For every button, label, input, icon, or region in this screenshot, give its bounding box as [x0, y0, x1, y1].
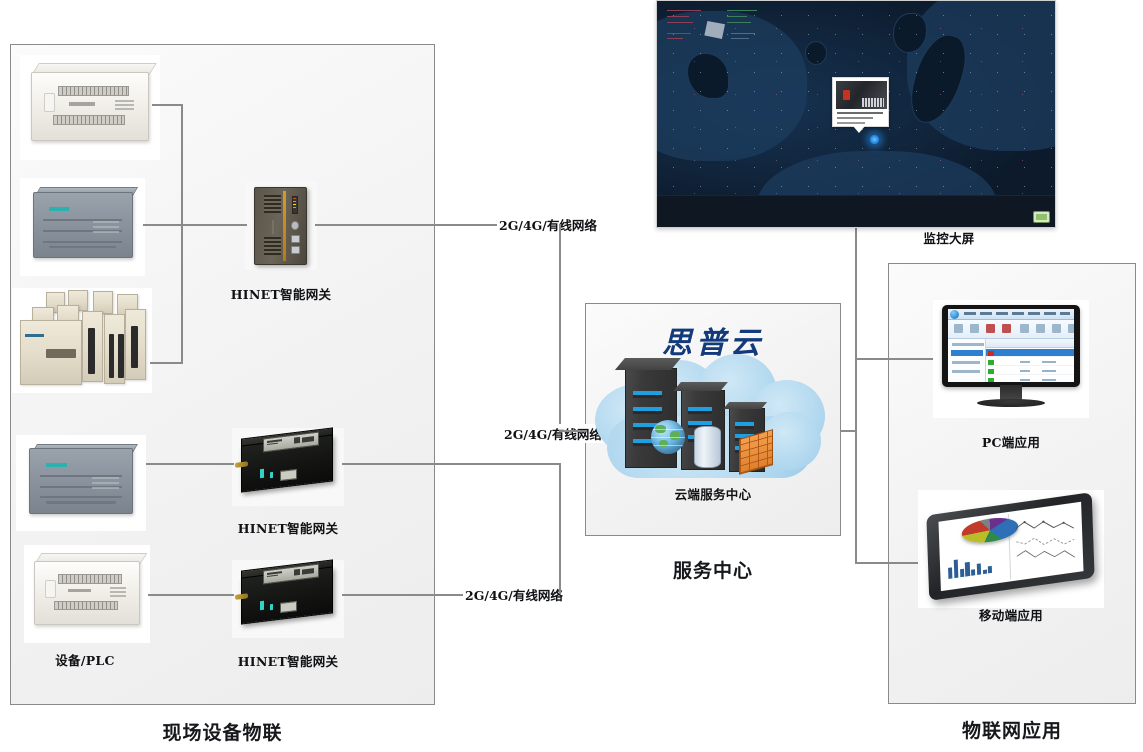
ethernet-port-2	[291, 246, 300, 254]
hud-line	[667, 22, 693, 23]
app-logo-orb	[950, 310, 959, 319]
plate-qr	[302, 436, 314, 443]
monitor-bezel	[942, 305, 1079, 388]
gateway-box-mid	[232, 428, 344, 506]
rack-bay	[633, 391, 662, 395]
app-data-grid[interactable]	[986, 339, 1074, 381]
tree-node[interactable]	[952, 343, 984, 346]
plc-terminal-block-lower	[53, 115, 125, 125]
drive-slot	[109, 334, 115, 378]
hud-line	[727, 16, 747, 17]
grid-cell	[1042, 361, 1056, 363]
device-siemens-plc-mid	[16, 435, 146, 531]
led-yellow	[293, 204, 296, 205]
toolbar-icon[interactable]	[970, 324, 979, 333]
map-device-popup	[832, 77, 889, 127]
globe-meridian	[651, 429, 685, 430]
globe-landmass	[670, 431, 680, 440]
grid-row[interactable]	[986, 376, 1074, 381]
gateway-shell	[254, 187, 307, 264]
wire-gateway-mid-to-cloud	[342, 463, 560, 465]
grid-row[interactable]	[986, 358, 1074, 366]
label-gateway-bottom: HINET智能网关	[223, 651, 353, 670]
tablet-frame	[927, 492, 1096, 601]
line-chart-area	[1013, 508, 1078, 573]
photo-red-component	[843, 90, 850, 100]
plc-body	[29, 448, 133, 513]
bar	[988, 566, 992, 574]
wire-plc2-stub	[143, 224, 183, 226]
antenna-connector	[291, 221, 299, 230]
menu-item[interactable]	[980, 312, 992, 315]
map-device-marker[interactable]	[869, 134, 880, 145]
plate-text-line	[268, 443, 279, 445]
status-led-cyan	[260, 600, 264, 609]
popup-text-line	[837, 117, 873, 119]
plc-body	[33, 192, 133, 259]
status-led-cyan-2	[270, 604, 273, 611]
monitor-base	[977, 399, 1046, 407]
plc-terminal-block-lower	[54, 601, 118, 610]
toolbar-icon[interactable]	[1052, 324, 1061, 333]
tablet-graphic	[918, 490, 1104, 608]
hud-line	[727, 10, 757, 11]
app-navigation-tree[interactable]	[948, 339, 986, 381]
gateway-din-rail-top	[245, 182, 317, 270]
wire-to-mobile-down	[855, 430, 857, 564]
plc-side-panel	[44, 93, 56, 112]
plate-qr	[302, 568, 314, 575]
hud-region-shape	[703, 21, 725, 39]
bar-chart	[948, 547, 1000, 579]
drive-slot	[131, 326, 138, 368]
label-gateway-top: HINET智能网关	[216, 284, 346, 303]
globe-meridian	[651, 437, 685, 438]
bar	[971, 569, 975, 576]
label-pc-app: PC端应用	[936, 432, 1086, 451]
photo-keypad	[862, 98, 884, 107]
plc-terminal-block-upper	[58, 574, 122, 583]
label-network-bottom: 2G/4G/有线网络	[463, 585, 565, 604]
menu-item[interactable]	[1060, 312, 1070, 315]
pc-monitor-graphic	[933, 300, 1089, 418]
pie-chart	[961, 515, 1019, 547]
plc-led-array	[115, 100, 133, 111]
label-device-plc: 设备/PLC	[20, 650, 150, 669]
grid-cell	[1042, 370, 1056, 372]
plc-brand-mark	[68, 589, 91, 592]
label-mobile-app: 移动端应用	[936, 605, 1086, 624]
toolbar-icon[interactable]	[954, 324, 963, 333]
popup-text-line	[837, 112, 883, 114]
led-red	[293, 198, 296, 199]
globe-icon	[651, 420, 685, 454]
toolbar-icon[interactable]	[1020, 324, 1029, 333]
wire-plc3-stub	[150, 362, 183, 364]
app-toolbar-ribbon	[948, 320, 1074, 339]
bar	[960, 568, 964, 577]
database-icon	[694, 426, 721, 468]
hud-line	[731, 33, 755, 34]
plc-body	[34, 561, 140, 626]
device-siemens-plc-top	[20, 178, 145, 276]
label-monitor-wall: 监控大屏	[824, 228, 1074, 247]
tree-node[interactable]	[952, 361, 980, 364]
menu-item[interactable]	[964, 312, 976, 315]
rack-top	[673, 382, 728, 391]
globe-meridian	[651, 445, 685, 446]
wire-plc4-to-gateway	[146, 463, 234, 465]
label-network-mid: 2G/4G/有线网络	[502, 424, 604, 443]
gateway-box-bottom	[232, 560, 344, 638]
grid-row[interactable]	[986, 367, 1074, 375]
device-mitsubishi-plc-bottom	[24, 545, 150, 643]
wire-net-top-down	[559, 224, 561, 430]
bar	[949, 567, 954, 579]
status-led-cyan	[260, 468, 264, 477]
rack-bay	[633, 407, 662, 411]
caption-service-center: 服务中心	[585, 556, 841, 583]
wire-plc5-to-gateway	[148, 594, 234, 596]
grid-header	[986, 339, 1074, 348]
plc-side-panel	[45, 580, 55, 598]
menu-item[interactable]	[1044, 312, 1056, 315]
grid-cell	[1042, 379, 1056, 381]
screen-power-indicator[interactable]	[1033, 211, 1050, 223]
cloud-service-graphic: 思普云	[593, 312, 833, 527]
wire-net-bottom-up	[559, 463, 561, 594]
device-mitsubishi-plc-top	[20, 55, 160, 160]
rack-bay	[688, 421, 712, 425]
gateway-emboss	[272, 220, 274, 234]
plate-barcode	[295, 569, 300, 576]
ethernet-port-1	[291, 235, 300, 243]
label-gateway-mid: HINET智能网关	[223, 518, 353, 537]
line-series-3	[1017, 544, 1075, 566]
toolbar-icon[interactable]	[1036, 324, 1045, 333]
siemens-logo	[46, 463, 66, 467]
plc-led-array	[110, 587, 127, 597]
vent-grille-bottom	[264, 237, 281, 255]
status-indicator-alarm	[988, 351, 994, 356]
diagram-canvas: 设备/PLC HINET智能网关	[0, 0, 1143, 752]
display-window	[46, 349, 77, 358]
wire-into-cloud	[559, 430, 587, 432]
wire-left-bus	[181, 104, 183, 363]
plc-io-rows	[93, 221, 118, 235]
brand-stripe	[25, 334, 45, 337]
grid-cell	[1020, 379, 1030, 381]
vent-grille-top	[264, 195, 281, 213]
toolbar-icon[interactable]	[1002, 324, 1011, 333]
menu-item[interactable]	[1012, 312, 1024, 315]
hud-line	[667, 10, 701, 11]
monitor-screen	[948, 309, 1074, 382]
menu-item[interactable]	[1028, 312, 1040, 315]
grid-row-selected[interactable]	[986, 349, 1074, 357]
caption-field-devices: 现场设备物联	[10, 718, 435, 745]
grid-cell	[1020, 370, 1030, 372]
tree-node-selected[interactable]	[951, 350, 983, 356]
status-indicator-ok	[988, 360, 994, 365]
plc-io-rows	[92, 477, 119, 491]
caption-iot-applications: 物联网应用	[888, 716, 1136, 743]
hud-line	[667, 33, 691, 34]
tablet-screen	[938, 502, 1083, 592]
grid-cell	[1020, 361, 1030, 363]
bar	[977, 564, 981, 576]
plc-brand-mark	[69, 102, 94, 105]
wire-plc1-stub	[152, 104, 183, 106]
monitoring-wall-screen[interactable]	[656, 0, 1056, 228]
monitor-stand	[1000, 385, 1022, 400]
hud-line	[667, 38, 683, 39]
rack-top	[615, 358, 681, 370]
hud-line	[727, 22, 751, 23]
hud-line	[667, 16, 689, 17]
plc-seam-3	[40, 496, 122, 498]
plate-text-line	[268, 575, 279, 577]
siemens-logo	[49, 207, 69, 211]
plc-terminal-block-upper	[58, 86, 130, 96]
hud-line	[731, 38, 749, 39]
bar	[983, 569, 987, 574]
status-indicator-ok	[988, 369, 994, 374]
label-network-top: 2G/4G/有线网络	[497, 215, 599, 234]
device-servo-drive-stack	[12, 288, 152, 393]
plc-body	[31, 72, 149, 141]
bar	[954, 560, 959, 579]
rack-bay	[688, 407, 712, 411]
popup-pointer	[853, 126, 865, 133]
plate-barcode	[295, 437, 300, 444]
led-green	[293, 207, 296, 208]
cloud-brand-logo: 思普云	[593, 318, 833, 362]
drive-slot	[88, 328, 95, 374]
popup-text-line	[837, 122, 865, 124]
drive-slot	[118, 334, 124, 378]
plc-seam-3	[43, 241, 121, 243]
led-orange	[293, 201, 296, 202]
rack-top	[723, 402, 767, 409]
menu-item[interactable]	[996, 312, 1008, 315]
app-menu-bar	[948, 309, 1074, 321]
plc-feet	[49, 246, 116, 249]
status-led-cyan-2	[270, 472, 273, 479]
tree-node[interactable]	[952, 370, 980, 373]
wire-cloud-out	[841, 430, 855, 432]
gateway-accent-stripe	[283, 191, 286, 260]
label-cloud-service-center: 云端服务中心	[593, 484, 833, 503]
wire-bus-to-gateway-top	[181, 224, 247, 226]
line-series-2	[1016, 533, 1074, 551]
status-indicator-ok	[988, 378, 994, 382]
popup-device-photo	[836, 81, 887, 109]
line-series-1	[1016, 516, 1074, 537]
bar	[965, 562, 970, 577]
hud-legend	[665, 7, 785, 43]
plc-feet	[46, 501, 115, 504]
rack-bay	[735, 422, 755, 426]
toolbar-icon[interactable]	[986, 324, 995, 333]
gateway-led-panel	[292, 196, 299, 214]
screen-bottom-band	[657, 195, 1055, 227]
toolbar-icon[interactable]	[1068, 324, 1074, 333]
